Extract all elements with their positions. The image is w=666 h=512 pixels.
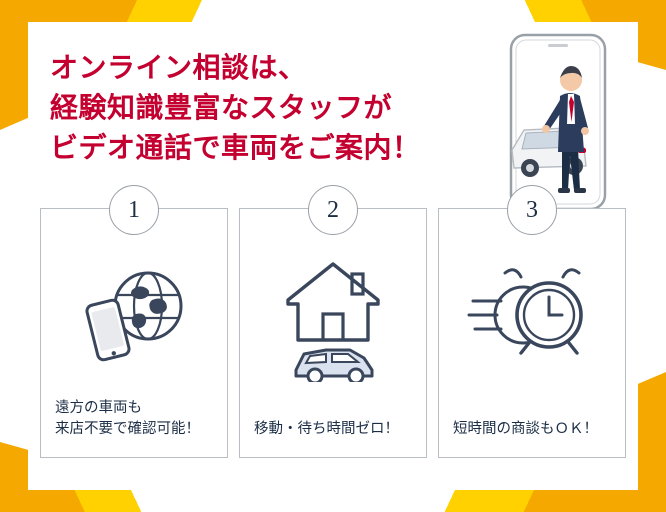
feature-card-1-number: 1 xyxy=(109,185,159,235)
feature-card-2-caption: 移動・待ち時間ゼロ！ xyxy=(254,419,418,441)
feature-card-1: 1 xyxy=(40,208,228,458)
feature-card-2: 2 xyxy=(239,208,427,458)
house-car-icon xyxy=(240,247,426,387)
banner-inner-card: オンライン相談は、 経験知識豊富なスタッフが ビデオ通話で車両をご案内！ xyxy=(28,22,638,490)
feature-card-1-caption: 遠方の車両も 来店不要で確認可能！ xyxy=(55,398,219,442)
feature-cards-row: 1 xyxy=(40,208,626,458)
promo-banner: オンライン相談は、 経験知識豊富なスタッフが ビデオ通話で車両をご案内！ xyxy=(0,0,666,512)
banner-headline: オンライン相談は、 経験知識豊富なスタッフが ビデオ通話で車両をご案内！ xyxy=(50,48,520,167)
alarm-clock-icon xyxy=(439,247,625,387)
feature-card-2-number: 2 xyxy=(308,185,358,235)
smartphone-video-call-illustration xyxy=(508,32,608,212)
feature-card-3-caption: 短時間の商談もＯＫ！ xyxy=(453,419,617,441)
feature-card-3-number: 3 xyxy=(507,185,557,235)
smartphone-globe-icon xyxy=(41,247,227,387)
feature-card-3: 3 xyxy=(438,208,626,458)
